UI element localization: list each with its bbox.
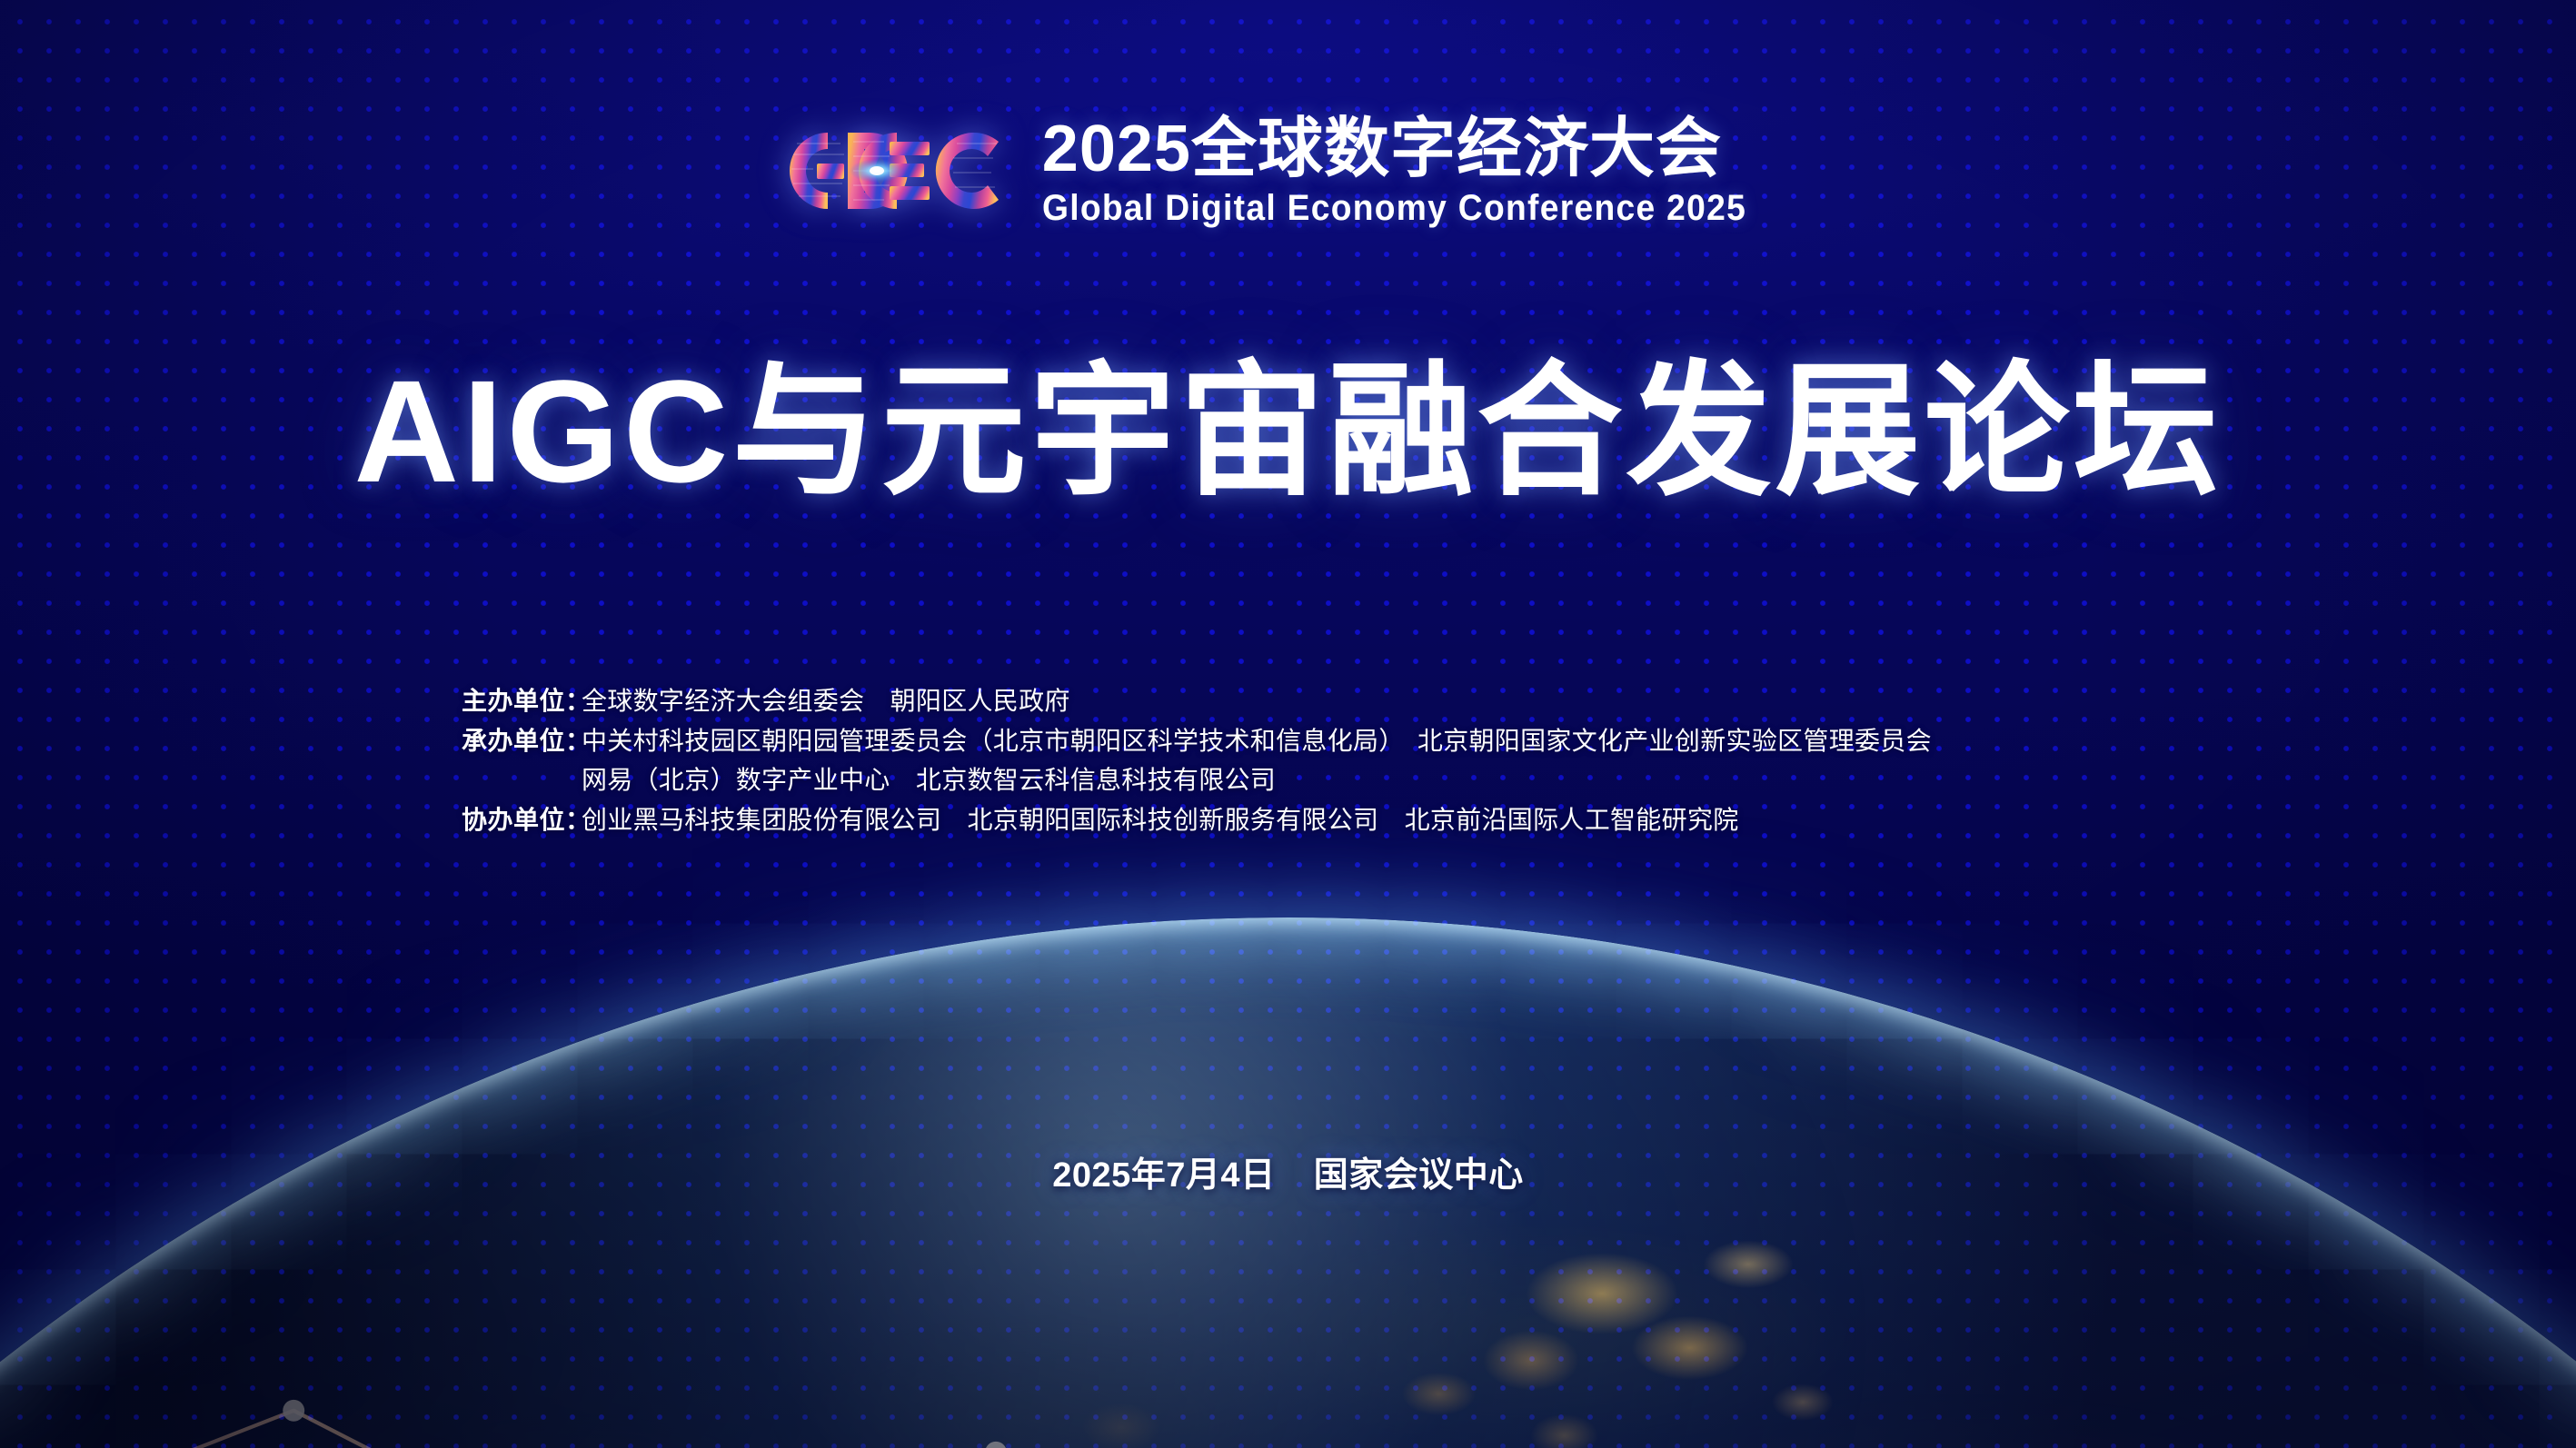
organizer-value-undertaker: 中关村科技园区朝阳园管理委员会（北京市朝阳区科学技术和信息化局） 北京朝阳国家文… <box>582 721 1932 761</box>
organizer-row-coorganizer: 协办单位： 创业黑马科技集团股份有限公司 北京朝阳国际科技创新服务有限公司 北京… <box>462 800 1932 840</box>
organizer-row-host: 主办单位： 全球数字经济大会组委会 朝阳区人民政府 <box>462 681 1932 721</box>
organizer-value-host: 全球数字经济大会组委会 朝阳区人民政府 <box>582 681 1070 721</box>
conference-title-cn: 2025全球数字经济大会 <box>1042 114 1799 183</box>
forum-title: AIGC与元宇宙融合发展论坛 <box>0 359 2576 504</box>
event-venue: 国家会议中心 <box>1314 1156 1524 1195</box>
organizers-block: 主办单位： 全球数字经济大会组委会 朝阳区人民政府 承办单位： 中关村科技园区朝… <box>462 681 1932 840</box>
organizer-label-host: 主办单位： <box>462 681 582 721</box>
gdec-logo-icon <box>777 122 1010 220</box>
banner-content: 2025全球数字经济大会 Global Digital Economy Conf… <box>0 0 2576 1448</box>
event-date: 2025年7月4日 <box>1052 1156 1275 1195</box>
masthead-text: 2025全球数字经济大会 Global Digital Economy Conf… <box>1042 114 1799 227</box>
organizer-label-coorganizer: 协办单位： <box>462 800 582 840</box>
conference-title-en: Global Digital Economy Conference 2025 <box>1042 189 1746 227</box>
conference-banner: 2025全球数字经济大会 Global Digital Economy Conf… <box>0 0 2576 1448</box>
date-venue: 2025年7月4日 国家会议中心 <box>0 1146 2576 1196</box>
organizer-row-undertaker-cont: 主办单位： 网易（北京）数字产业中心 北京数智云科信息科技有限公司 <box>462 760 1932 800</box>
organizer-value-coorganizer: 创业黑马科技集团股份有限公司 北京朝阳国际科技创新服务有限公司 北京前沿国际人工… <box>582 800 1739 840</box>
organizer-row-undertaker: 承办单位： 中关村科技园区朝阳园管理委员会（北京市朝阳区科学技术和信息化局） 北… <box>462 721 1932 761</box>
organizer-label-undertaker: 承办单位： <box>462 721 582 761</box>
masthead: 2025全球数字经济大会 Global Digital Economy Conf… <box>0 114 2576 227</box>
organizer-value-undertaker-cont: 网易（北京）数字产业中心 北京数智云科信息科技有限公司 <box>582 760 1276 800</box>
